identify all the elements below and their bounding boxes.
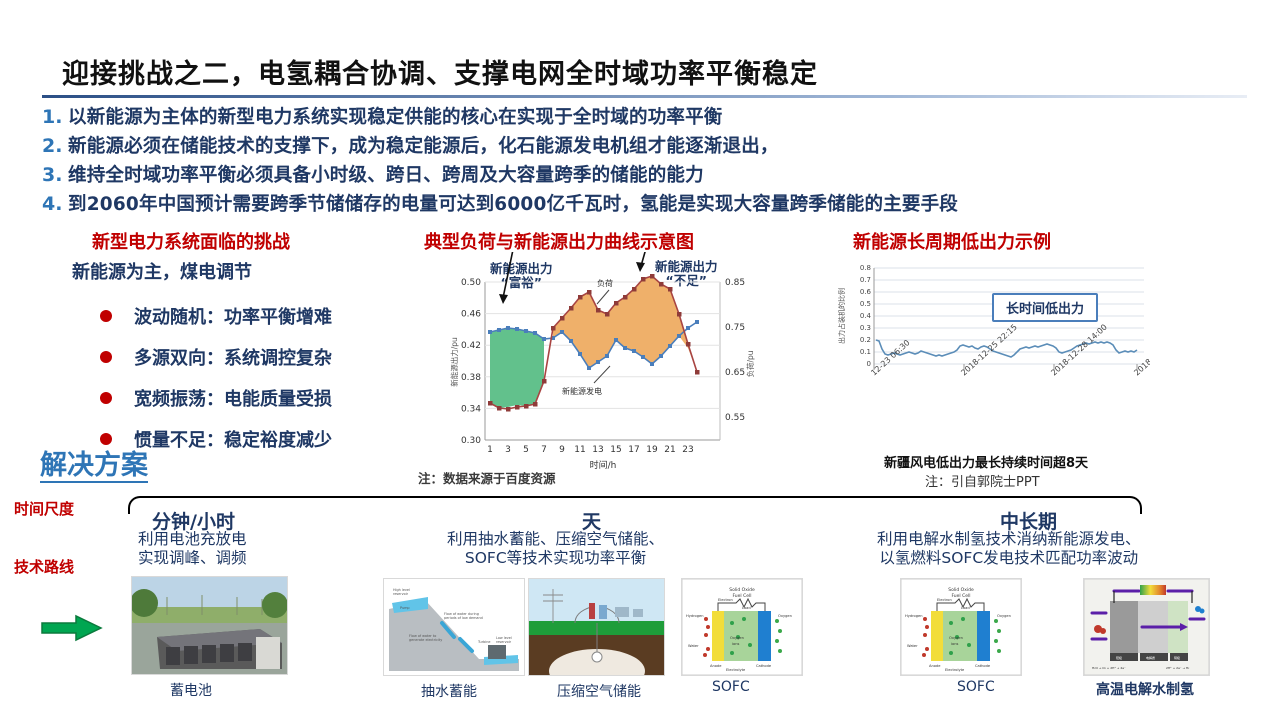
- bullet-dot-icon: [100, 392, 112, 404]
- pumped-hydro-diagram: High levelreservoir Pump Flow of water t…: [383, 578, 525, 676]
- svg-text:5: 5: [523, 445, 529, 455]
- svg-text:电解质: 电解质: [1146, 655, 1155, 660]
- surplus-area: [490, 328, 544, 408]
- image-caption: SOFC: [712, 679, 750, 695]
- list-item: 波动随机：功率平衡增难: [100, 295, 332, 336]
- high-temp-electrolysis-diagram: 阳极电解质阴极 H₂O → O₂ + 2H⁺ + 2e⁻ 2H⁺ + 2e⁻ →…: [1083, 578, 1210, 676]
- column-desc-line: 利用电池充放电: [138, 530, 247, 549]
- annotation-arrow-shortage: [636, 252, 649, 272]
- svg-text:0.8: 0.8: [860, 264, 871, 272]
- right-chart-y-labels: 0.8 0.7 0.6 0.5 0.4 0.3 0.2 0.1 0: [860, 264, 872, 368]
- image-caption: 高温电解水制氢: [1096, 679, 1194, 699]
- challenge-text: 波动随机：功率平衡增难: [134, 303, 332, 329]
- svg-text:Load: Load: [961, 606, 970, 610]
- challenges-subheading: 新能源为主，煤电调节: [72, 258, 252, 284]
- svg-text:Anode: Anode: [710, 664, 722, 668]
- bullet-dot-icon: [100, 310, 112, 322]
- right-chart-x-labels: 12-23 06:30 2018-12-25 22:15 2018-12-28 …: [869, 323, 1150, 378]
- svg-text:0.5: 0.5: [860, 300, 871, 308]
- y2-axis-title: 负荷/pu: [745, 350, 755, 377]
- right-chart-title: 新能源长周期低出力示例: [853, 228, 1051, 254]
- list-item: 4. 到2060年中国预计需要跨季节储储存的电量可达到6000亿千瓦时，氢能是实…: [42, 190, 1262, 216]
- svg-text:generate electricity: generate electricity: [409, 638, 442, 642]
- bullet-number: 2.: [42, 135, 68, 157]
- inline-label-renewable: 新能源发电: [562, 366, 610, 396]
- image-caption: 蓄电池: [170, 680, 212, 700]
- svg-text:0.50: 0.50: [461, 278, 481, 288]
- svg-text:13: 13: [592, 445, 603, 455]
- column-desc-line: 利用电解水制氢技术消纳新能源发电、: [877, 530, 1141, 549]
- middle-chart-title: 典型负荷与新能源出力曲线示意图: [424, 228, 694, 254]
- svg-text:0.55: 0.55: [725, 413, 745, 423]
- bullet-number: 3.: [42, 164, 68, 186]
- list-item: 多源双向：系统调控复杂: [100, 336, 332, 377]
- svg-text:Water: Water: [907, 644, 918, 648]
- inline-label-load: 负荷: [597, 278, 613, 304]
- svg-text:阳极: 阳极: [1116, 655, 1122, 660]
- svg-text:reservoir: reservoir: [496, 640, 512, 644]
- y2-axis-labels: 0.85 0.75 0.65 0.55: [725, 278, 745, 423]
- challenge-text: 宽频振荡：电能质量受损: [134, 385, 332, 411]
- typical-load-chart: 负荷 新能源发电 0.50 0.46 0.42 0.38 0.34 0.30 0…: [437, 252, 767, 487]
- svg-text:Oxygen: Oxygen: [730, 636, 744, 640]
- svg-text:Electron: Electron: [937, 598, 952, 602]
- svg-text:1: 1: [487, 445, 493, 455]
- svg-text:0.42: 0.42: [461, 341, 481, 351]
- bullet-text: 新能源必须在储能技术的支撑下，成为稳定能源后，化石能源发电机组才能逐渐退出，: [68, 132, 779, 158]
- list-item: 2. 新能源必须在储能技术的支撑下，成为稳定能源后，化石能源发电机组才能逐渐退出…: [42, 132, 1262, 158]
- svg-text:ions: ions: [732, 642, 739, 646]
- bullet-number: 1.: [42, 106, 68, 128]
- svg-text:3: 3: [505, 445, 511, 455]
- svg-text:负荷: 负荷: [597, 278, 613, 288]
- solution-bracket: [128, 496, 1142, 514]
- column-desc-line: 利用抽水蓄能、压缩空气储能、: [447, 530, 664, 549]
- svg-text:0.75: 0.75: [725, 323, 745, 333]
- svg-text:19: 19: [646, 445, 658, 455]
- svg-text:2018-12-31 05:45: 2018-12-31 05:45: [1132, 323, 1150, 378]
- svg-text:0.65: 0.65: [725, 368, 745, 378]
- right-chart-x-ticks: [874, 364, 1137, 370]
- bullet-list: 1. 以新能源为主体的新型电力系统实现稳定供能的核心在实现于全时域的功率平衡 2…: [42, 103, 1262, 219]
- svg-text:2018-12-25 22:15: 2018-12-25 22:15: [959, 323, 1019, 378]
- sofc-diagram-2: Solid Oxide Fuel Cell HydrogenWater: [900, 578, 1022, 676]
- bullet-number: 4.: [42, 193, 68, 215]
- column-desc-day: 利用抽水蓄能、压缩空气储能、 SOFC等技术实现功率平衡: [447, 530, 664, 569]
- x-axis-title: 时间/h: [590, 459, 617, 471]
- svg-text:Cathode: Cathode: [756, 664, 772, 668]
- column-desc-line: 以氢燃料SOFC发电技术匹配功率波动: [877, 549, 1141, 568]
- column-desc-line: 实现调峰、调频: [138, 549, 247, 568]
- svg-text:Oxygen: Oxygen: [778, 614, 792, 618]
- title-divider: [42, 95, 1247, 98]
- svg-text:15: 15: [610, 445, 621, 455]
- low-output-annotation-box: 长时间低出力: [992, 293, 1098, 322]
- bullet-text: 以新能源为主体的新型电力系统实现稳定供能的核心在实现于全时域的功率平衡: [68, 103, 723, 129]
- svg-text:0.1: 0.1: [860, 348, 871, 356]
- image-caption: 抽水蓄能: [421, 681, 477, 701]
- svg-text:Electron: Electron: [718, 598, 733, 602]
- slide-root: 迎接挑战之二，电氢耦合协调、支撑电网全时域功率平衡稳定 1. 以新能源为主体的新…: [0, 0, 1280, 717]
- svg-text:阴极: 阴极: [1174, 655, 1180, 660]
- x-axis-labels: 135 7911 131517 192123: [487, 445, 694, 455]
- svg-text:Hydrogen: Hydrogen: [905, 614, 922, 618]
- svg-text:0.38: 0.38: [461, 373, 481, 383]
- middle-chart-note: 注：数据来源于百度资源: [418, 468, 556, 487]
- image-caption: SOFC: [957, 679, 995, 695]
- annotation-arrow-surplus: [499, 252, 515, 304]
- solution-heading: 解决方案: [40, 452, 148, 483]
- right-chart-note: 注：引自郭院士PPT: [925, 471, 1040, 490]
- svg-text:periods of low demand: periods of low demand: [444, 616, 483, 620]
- svg-text:0.46: 0.46: [461, 310, 481, 320]
- svg-text:Load: Load: [742, 606, 751, 610]
- challenge-text: 惯量不足：稳定裕度减少: [134, 426, 332, 452]
- svg-text:21: 21: [664, 445, 675, 455]
- challenges-heading: 新型电力系统面临的挑战: [92, 228, 290, 254]
- svg-text:Water: Water: [688, 644, 699, 648]
- list-item: 1. 以新能源为主体的新型电力系统实现稳定供能的核心在实现于全时域的功率平衡: [42, 103, 1262, 129]
- series-wind-output: [876, 340, 1137, 357]
- column-desc-midlong-term: 利用电解水制氢技术消纳新能源发电、 以氢燃料SOFC发电技术匹配功率波动: [877, 530, 1141, 569]
- svg-text:H₂O → O₂ + 2H⁺ + 2e⁻: H₂O → O₂ + 2H⁺ + 2e⁻: [1092, 666, 1126, 670]
- svg-text:Solid Oxide: Solid Oxide: [729, 587, 755, 593]
- svg-text:0.2: 0.2: [860, 336, 871, 344]
- svg-text:12-23 06:30: 12-23 06:30: [869, 338, 911, 377]
- svg-text:0.85: 0.85: [725, 278, 745, 288]
- svg-text:Pump: Pump: [400, 606, 410, 610]
- time-scale-label: 时间尺度: [14, 498, 74, 519]
- column-desc-minutes-hours: 利用电池充放电 实现调峰、调频: [138, 530, 247, 569]
- svg-text:9: 9: [559, 445, 565, 455]
- bullet-text: 到2060年中国预计需要跨季节储储存的电量可达到6000亿千瓦时，氢能是实现大容…: [68, 190, 958, 216]
- challenge-text: 多源双向：系统调控复杂: [134, 344, 332, 370]
- svg-text:Fuel Cell: Fuel Cell: [951, 593, 970, 599]
- list-item: 3. 维持全时域功率平衡必须具备小时级、跨日、跨周及大容量跨季的储能的能力: [42, 161, 1262, 187]
- bullet-text: 维持全时域功率平衡必须具备小时级、跨日、跨周及大容量跨季的储能的能力: [68, 161, 704, 187]
- y-axis-labels: 0.50 0.46 0.42 0.38 0.34 0.30: [461, 278, 481, 446]
- svg-text:0.7: 0.7: [860, 276, 871, 284]
- svg-text:Oxygen: Oxygen: [997, 614, 1011, 618]
- svg-text:2H⁺ + 2e⁻ → H₂: 2H⁺ + 2e⁻ → H₂: [1166, 666, 1190, 670]
- svg-text:Electrolyte: Electrolyte: [726, 668, 746, 672]
- bullet-dot-icon: [100, 351, 112, 363]
- right-chart-y-title: 出力占装机的比例: [837, 288, 846, 344]
- list-item: 宽频振荡：电能质量受损: [100, 377, 332, 418]
- green-arrow-icon: [40, 613, 104, 643]
- tech-route-label: 技术路线: [14, 556, 74, 577]
- sofc-diagram-1: Solid Oxide Fuel Cell HydrogenWater: [681, 578, 803, 676]
- y-axis-title: 新能源出力/pu: [449, 337, 459, 387]
- svg-text:Oxygen: Oxygen: [949, 636, 963, 640]
- svg-text:0.3: 0.3: [860, 324, 871, 332]
- svg-text:Fuel Cell: Fuel Cell: [732, 593, 751, 599]
- svg-text:Hydrogen: Hydrogen: [686, 614, 703, 618]
- svg-text:0.6: 0.6: [860, 288, 872, 296]
- right-chart-caption: 新疆风电低出力最长持续时间超8天: [884, 452, 1088, 471]
- svg-text:新能源发电: 新能源发电: [562, 386, 602, 396]
- compressed-air-diagram: [528, 578, 665, 676]
- challenges-list: 波动随机：功率平衡增难 多源双向：系统调控复杂 宽频振荡：电能质量受损 惯量不足…: [100, 295, 332, 459]
- svg-text:Anode: Anode: [929, 664, 941, 668]
- svg-text:ions: ions: [951, 642, 958, 646]
- battery-storage-photo: [131, 576, 288, 675]
- svg-text:Cathode: Cathode: [975, 664, 991, 668]
- svg-text:Electrolyte: Electrolyte: [945, 668, 965, 672]
- image-caption: 压缩空气储能: [557, 681, 641, 701]
- svg-text:0.30: 0.30: [461, 436, 481, 446]
- bullet-dot-icon: [100, 433, 112, 445]
- page-title: 迎接挑战之二，电氢耦合协调、支撑电网全时域功率平衡稳定: [62, 52, 818, 91]
- svg-text:7: 7: [541, 445, 547, 455]
- svg-text:reservoir: reservoir: [393, 592, 409, 596]
- svg-text:Turbine: Turbine: [477, 640, 490, 644]
- long-period-low-output-chart: 0.8 0.7 0.6 0.5 0.4 0.3 0.2 0.1 0 出力占装机的…: [832, 258, 1150, 448]
- deficit-area: [553, 276, 697, 372]
- svg-text:11: 11: [574, 445, 585, 455]
- svg-text:17: 17: [628, 445, 639, 455]
- svg-text:0: 0: [867, 360, 871, 368]
- svg-text:Solid Oxide: Solid Oxide: [948, 587, 974, 593]
- column-desc-line: SOFC等技术实现功率平衡: [447, 549, 664, 568]
- svg-text:23: 23: [682, 445, 693, 455]
- svg-text:0.34: 0.34: [461, 404, 481, 414]
- svg-text:0.4: 0.4: [860, 312, 872, 320]
